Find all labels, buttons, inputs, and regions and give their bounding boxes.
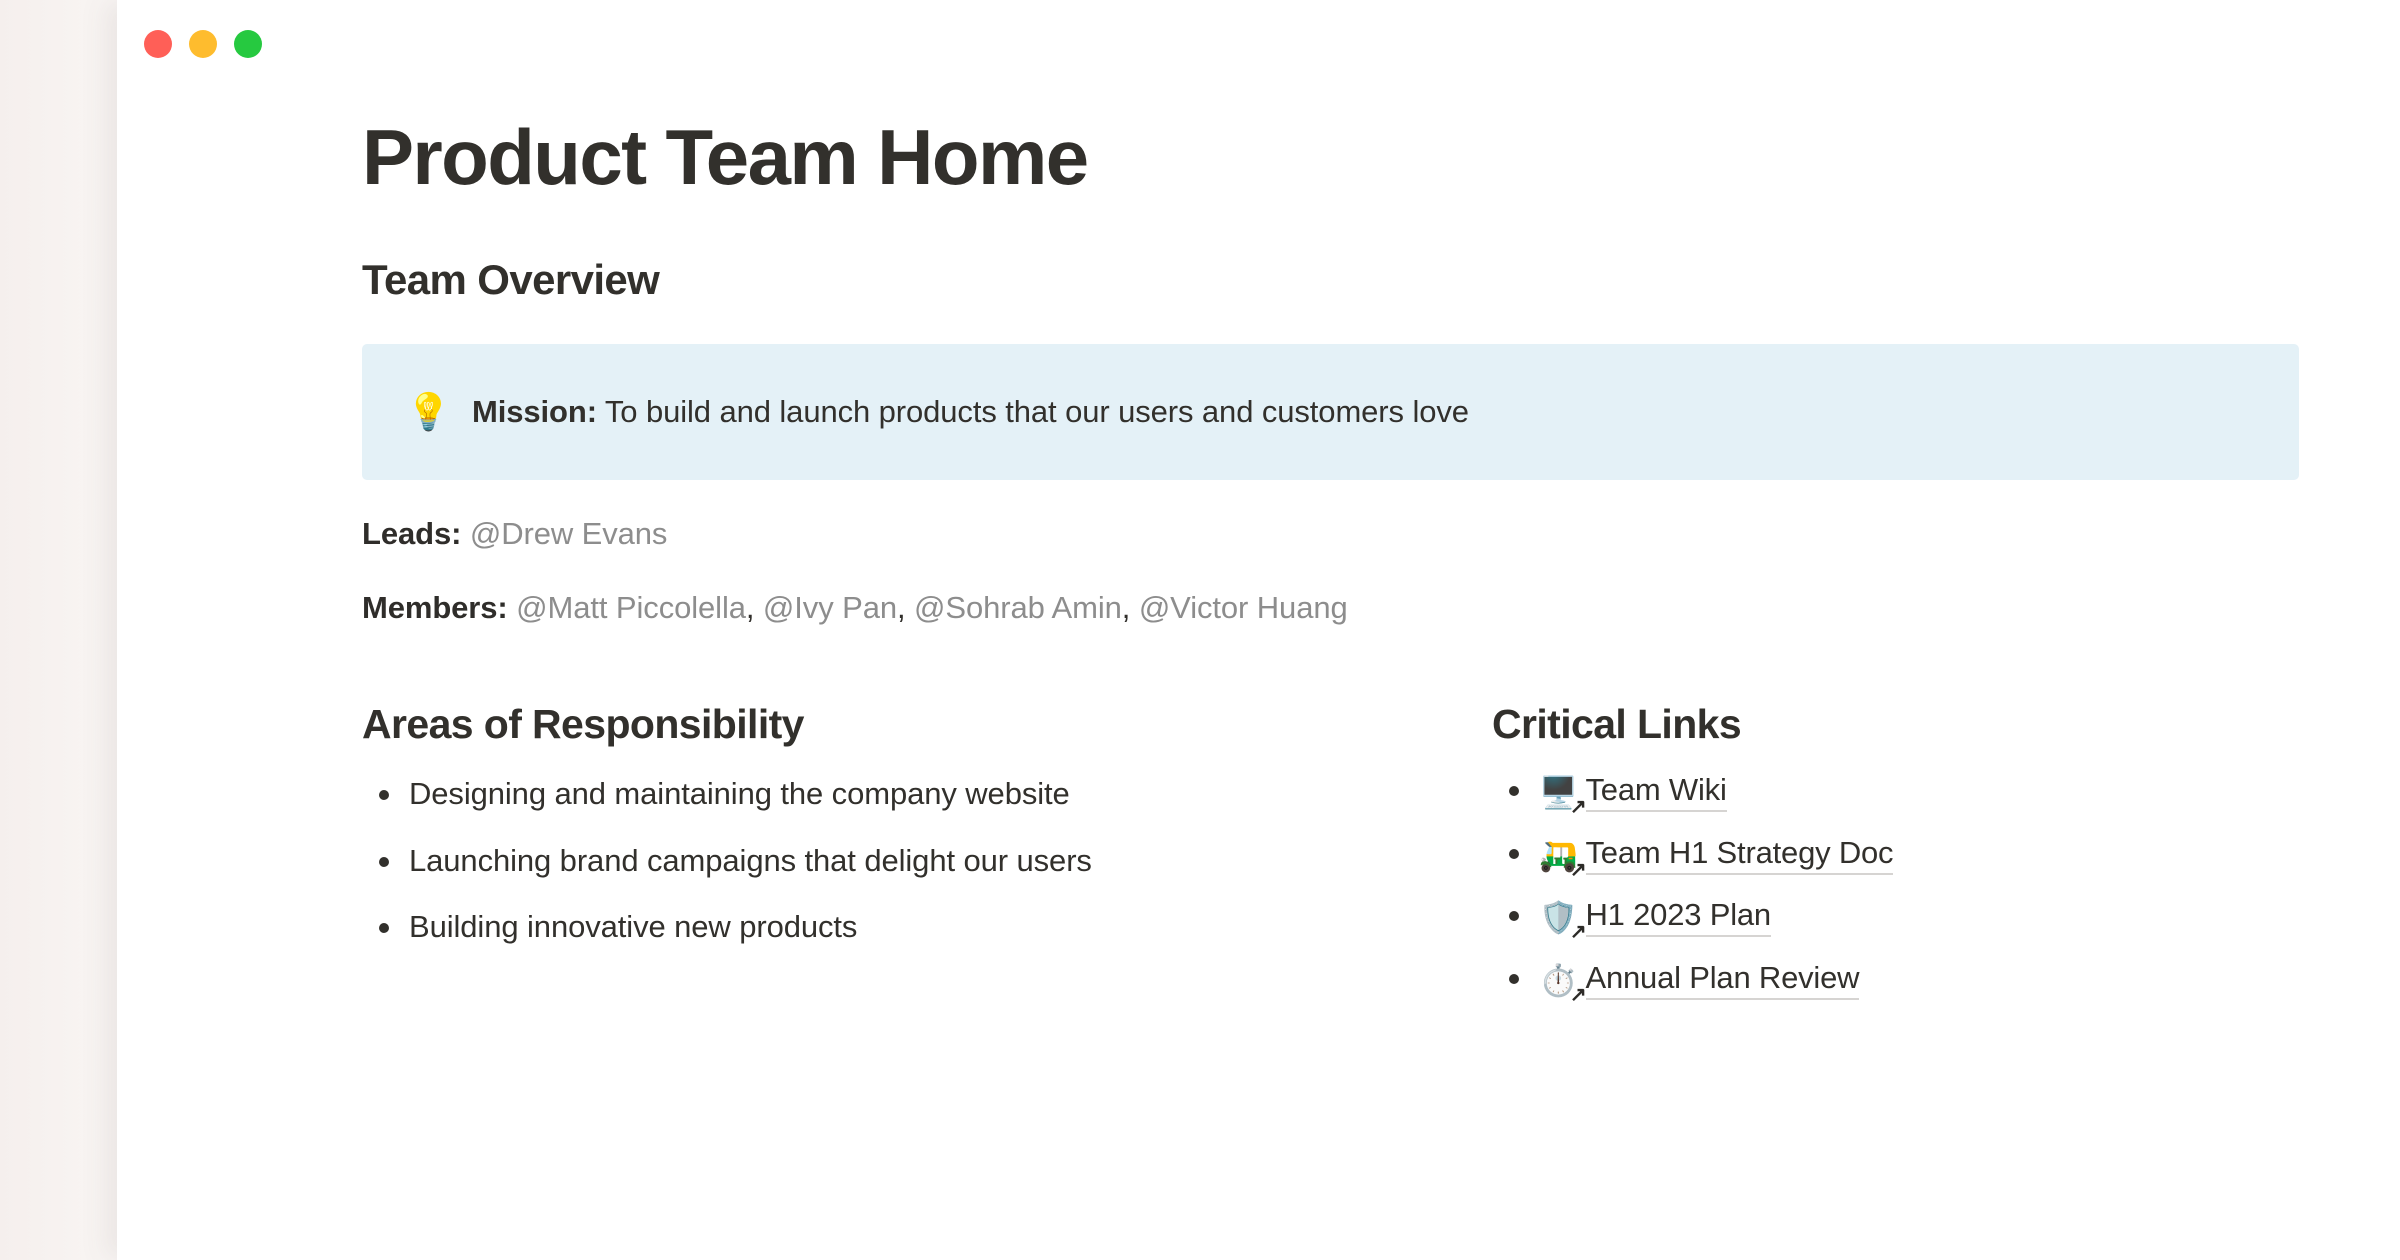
members-label: Members: [362,590,508,625]
mission-statement: To build and launch products that our us… [597,394,1469,429]
list-item: 🛺↗Team H1 Strategy Doc [1492,833,2372,874]
stopwatch-icon: ⏱️↗ [1539,965,1578,996]
light-bulb-icon: 💡 [406,394,450,430]
mission-label: Mission: [472,394,597,429]
list-item: ⏱️↗Annual Plan Review [1492,958,2372,999]
member-separator: , [1122,590,1131,625]
close-window-button[interactable] [144,30,172,58]
mention-sohrab-amin[interactable]: @Sohrab Amin [914,590,1122,625]
mission-callout-text: Mission: To build and launch products th… [472,391,1469,433]
list-item[interactable]: Designing and maintaining the company we… [362,774,1152,815]
two-column-section: Areas of Responsibility Designing and ma… [362,701,2300,1000]
minimize-window-button[interactable] [189,30,217,58]
screen: Product Team Home Team Overview 💡 Missio… [0,0,2400,1260]
list-item: 🛡️↗H1 2023 Plan [1492,895,2372,936]
list-item[interactable]: Building innovative new products [362,907,1152,948]
section-heading-team-overview[interactable]: Team Overview [362,196,2300,304]
list-item[interactable]: Launching brand campaigns that delight o… [362,841,1152,882]
mention-matt-piccolella[interactable]: @Matt Piccolella [516,590,746,625]
desktop-computer-icon: 🖥️↗ [1539,777,1578,808]
member-separator: , [746,590,755,625]
link-annual-plan-review[interactable]: Annual Plan Review [1586,960,1860,1000]
mention-drew-evans[interactable]: @Drew Evans [470,516,667,551]
link-team-wiki[interactable]: Team Wiki [1586,772,1727,812]
external-link-arrow-icon: ↗ [1570,797,1587,817]
link-h1-2023-plan[interactable]: H1 2023 Plan [1586,897,1771,937]
members-line: Members: @Matt Piccolella, @Ivy Pan, @So… [362,588,2300,628]
responsibility-list: Designing and maintaining the company we… [362,774,1152,949]
mission-callout[interactable]: 💡 Mission: To build and launch products … [362,344,2299,480]
section-heading-critical-links[interactable]: Critical Links [1492,701,2372,748]
mention-victor-huang[interactable]: @Victor Huang [1139,590,1348,625]
external-link-arrow-icon: ↗ [1570,985,1587,1005]
link-team-h1-strategy-doc[interactable]: Team H1 Strategy Doc [1586,835,1894,875]
window-traffic-lights [144,30,262,58]
maximize-window-button[interactable] [234,30,262,58]
section-heading-areas-of-responsibility[interactable]: Areas of Responsibility [362,701,1152,748]
areas-of-responsibility-column: Areas of Responsibility Designing and ma… [362,701,1152,1000]
critical-links-list: 🖥️↗Team Wiki 🛺↗Team H1 Strategy Doc 🛡️↗H… [1492,770,2372,1000]
leads-label: Leads: [362,516,461,551]
leads-line: Leads: @Drew Evans [362,514,2300,554]
page-title[interactable]: Product Team Home [362,0,2300,196]
shield-icon: 🛡️↗ [1539,902,1578,933]
critical-links-column: Critical Links 🖥️↗Team Wiki 🛺↗Team H1 St… [1492,701,2372,1000]
document-body: Product Team Home Team Overview 💡 Missio… [362,0,2300,1260]
list-item: 🖥️↗Team Wiki [1492,770,2372,811]
external-link-arrow-icon: ↗ [1570,860,1587,880]
external-link-arrow-icon: ↗ [1570,922,1587,942]
member-separator: , [897,590,906,625]
auto-rickshaw-icon: 🛺↗ [1539,840,1578,871]
mention-ivy-pan[interactable]: @Ivy Pan [763,590,897,625]
app-window: Product Team Home Team Overview 💡 Missio… [117,0,2400,1260]
